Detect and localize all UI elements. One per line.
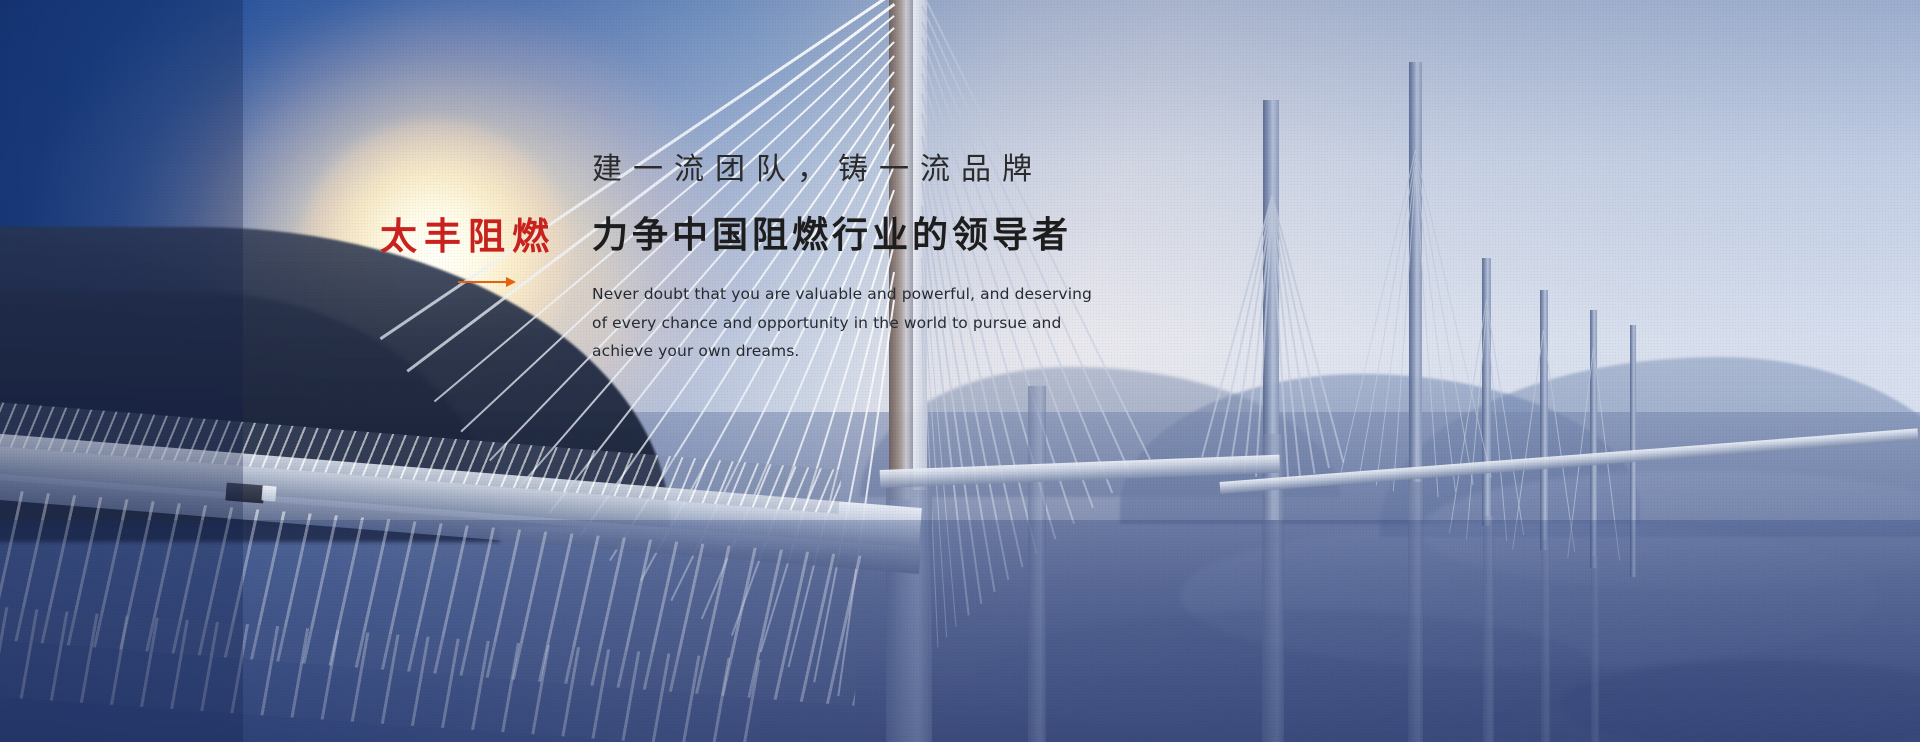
banner-content: 太丰阻燃 建一流团队，铸一流品牌 力争中国阻燃行业的领导者 Never doub… [0,0,1920,742]
subtext-line-1: Never doubt that you are valuable and po… [592,280,1052,309]
subtext-line-3: achieve your own dreams. [592,337,1052,366]
brand-logo-text: 太丰阻燃 [380,218,600,255]
right-arrow-icon [458,276,516,287]
headline-secondary: 力争中国阻燃行业的领导者 [592,213,1232,258]
banner-text-block: 建一流团队，铸一流品牌 力争中国阻燃行业的领导者 Never doubt tha… [592,150,1232,366]
brand-logo[interactable]: 太丰阻燃 [380,218,600,287]
hero-banner: 太丰阻燃 建一流团队，铸一流品牌 力争中国阻燃行业的领导者 Never doub… [0,0,1920,742]
banner-subtext: Never doubt that you are valuable and po… [592,280,1052,366]
arrow-shaft [458,281,510,283]
subtext-line-2: of every chance and opportunity in the w… [592,309,1052,338]
arrow-head [506,277,516,287]
headline-primary: 建一流团队，铸一流品牌 [592,150,1232,189]
